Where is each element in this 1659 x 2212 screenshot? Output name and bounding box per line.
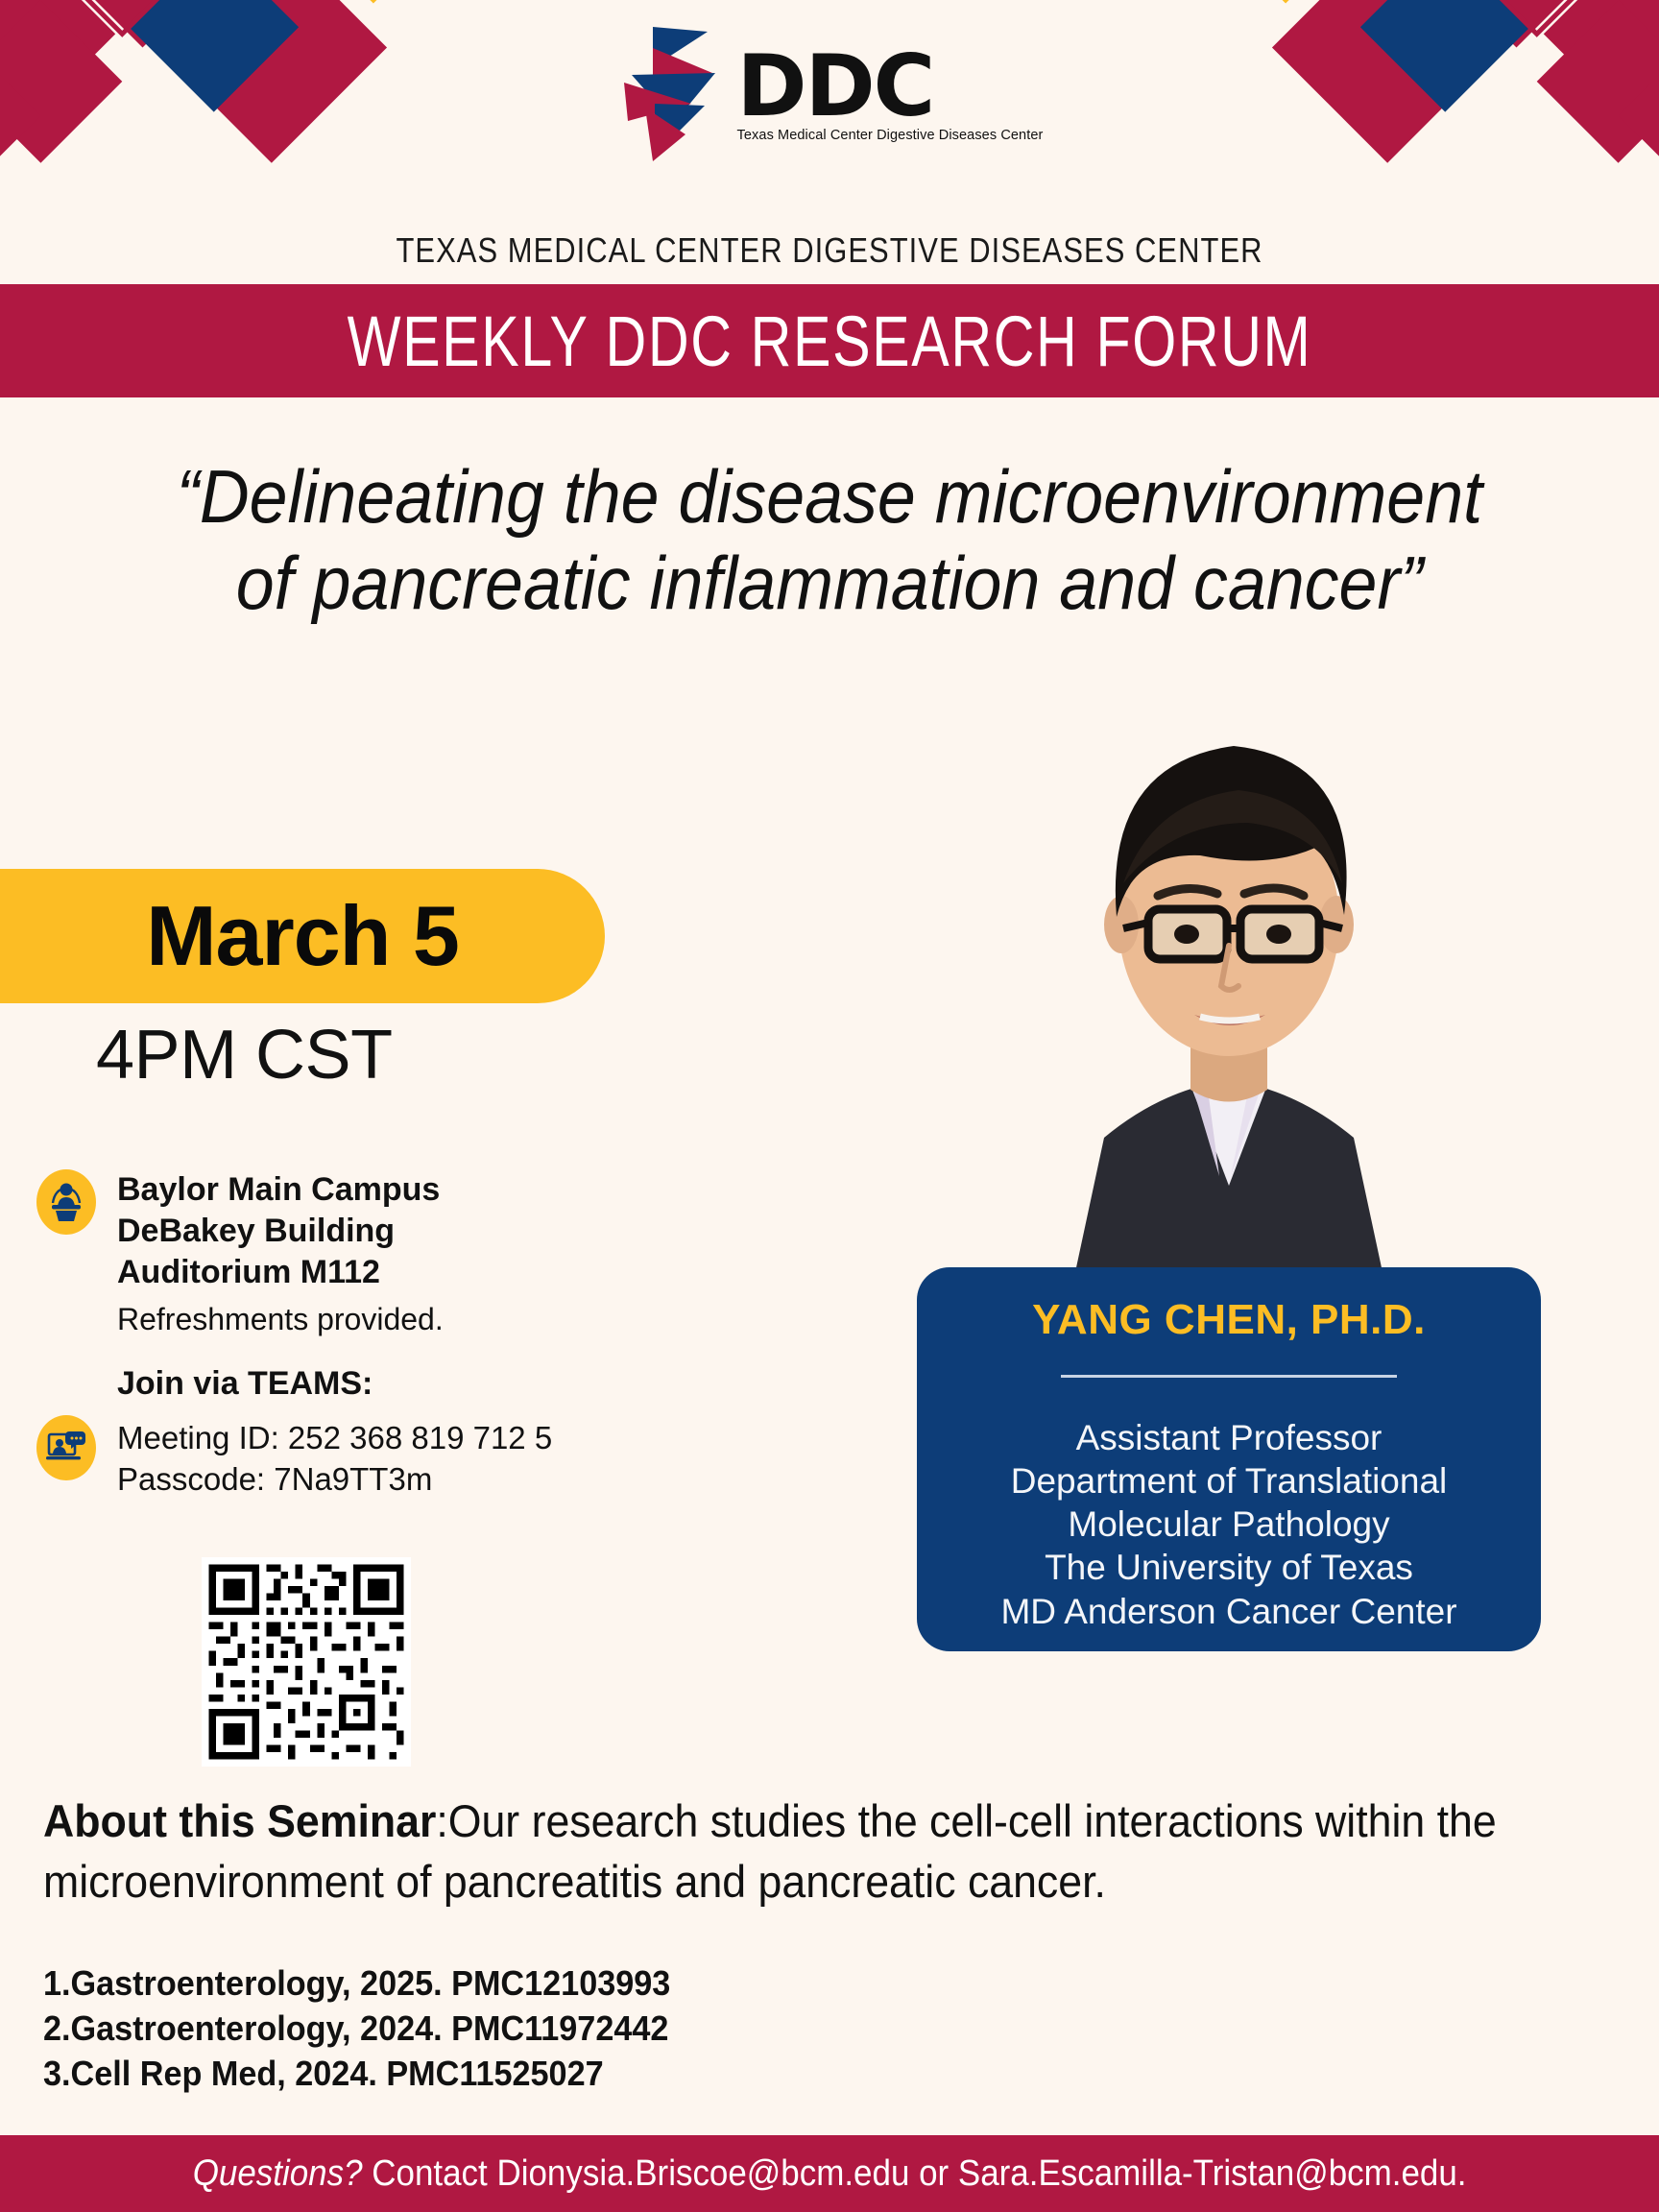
speaker-affiliation-line: Molecular Pathology bbox=[917, 1503, 1541, 1546]
laptop-video-call-glyph bbox=[46, 1431, 86, 1465]
ddc-triangle-mark-icon bbox=[616, 27, 730, 161]
speaker-affiliation-line: The University of Texas bbox=[917, 1546, 1541, 1589]
footer-contact-text: Questions? Contact Dionysia.Briscoe@bcm.… bbox=[193, 2153, 1467, 2195]
venue-line-3: Auditorium M112 bbox=[117, 1252, 444, 1293]
footer-questions-label: Questions? bbox=[193, 2153, 363, 2194]
talk-title-line-2: of pancreatic inflammation and cancer” bbox=[66, 540, 1593, 626]
event-date: March 5 bbox=[117, 887, 459, 985]
speaker-headshot-image bbox=[960, 677, 1498, 1272]
forum-banner-title: WEEKLY DDC RESEARCH FORUM bbox=[348, 301, 1312, 382]
teams-heading: Join via TEAMS: bbox=[117, 1363, 552, 1405]
about-seminar-label: About this Seminar bbox=[43, 1795, 436, 1846]
speaker-affiliation: Assistant Professor Department of Transl… bbox=[917, 1416, 1541, 1633]
venue-line-2: DeBakey Building bbox=[117, 1211, 444, 1252]
reference-item: 3.Cell Rep Med, 2024. PMC11525027 bbox=[43, 2052, 670, 2097]
organization-name: TEXAS MEDICAL CENTER DIGESTIVE DISEASES … bbox=[116, 230, 1543, 271]
about-seminar: About this Seminar:Our research studies … bbox=[43, 1791, 1539, 1912]
qr-code-image bbox=[202, 1557, 411, 1767]
speaker-name: YANG CHEN, PH.D. bbox=[917, 1296, 1541, 1344]
venue-note: Refreshments provided. bbox=[117, 1300, 444, 1338]
logo-wordmark: DDC bbox=[737, 46, 934, 127]
about-seminar-separator: : bbox=[436, 1795, 447, 1846]
footer-contact-bar: Questions? Contact Dionysia.Briscoe@bcm.… bbox=[0, 2135, 1659, 2212]
podium-speaker-glyph bbox=[47, 1182, 85, 1222]
talk-title-line-1: “Delineating the disease microenvironmen… bbox=[66, 453, 1593, 540]
seminar-flyer: DDC Texas Medical Center Digestive Disea… bbox=[0, 0, 1659, 2212]
speaker-affiliation-line: Assistant Professor bbox=[917, 1416, 1541, 1459]
virtual-join-info: Join via TEAMS: Meeting ID: 252 368 819 … bbox=[36, 1363, 552, 1501]
speaker-divider bbox=[1061, 1375, 1397, 1378]
reference-item: 2.Gastroenterology, 2024. PMC11972442 bbox=[43, 2007, 670, 2052]
logo-tagline: Texas Medical Center Digestive Diseases … bbox=[737, 129, 1044, 143]
venue-info: Baylor Main Campus DeBakey Building Audi… bbox=[36, 1169, 444, 1339]
laptop-video-call-icon bbox=[36, 1415, 96, 1480]
footer-contact-emails[interactable]: Contact Dionysia.Briscoe@bcm.edu or Sara… bbox=[362, 2153, 1466, 2194]
event-time: 4PM CST bbox=[96, 1016, 393, 1094]
reference-item: 1.Gastroenterology, 2025. PMC12103993 bbox=[43, 1961, 670, 2007]
teams-meeting-id[interactable]: Meeting ID: 252 368 819 712 5 bbox=[117, 1418, 552, 1459]
forum-banner: WEEKLY DDC RESEARCH FORUM bbox=[0, 284, 1659, 397]
speaker-affiliation-line: Department of Translational bbox=[917, 1459, 1541, 1503]
speaker-affiliation-line: MD Anderson Cancer Center bbox=[917, 1590, 1541, 1633]
teams-meeting-qr-code[interactable] bbox=[202, 1557, 411, 1767]
speaker-card: YANG CHEN, PH.D. Assistant Professor Dep… bbox=[917, 1267, 1541, 1651]
venue-line-1: Baylor Main Campus bbox=[117, 1169, 444, 1211]
page-title: “Delineating the disease microenvironmen… bbox=[66, 453, 1593, 627]
teams-passcode[interactable]: Passcode: 7Na9TT3m bbox=[117, 1459, 552, 1501]
event-date-badge: March 5 bbox=[0, 869, 605, 1003]
reference-list: 1.Gastroenterology, 2025. PMC12103993 2.… bbox=[43, 1961, 670, 2096]
podium-speaker-icon bbox=[36, 1169, 96, 1235]
ddc-logo: DDC Texas Medical Center Digestive Disea… bbox=[0, 27, 1659, 161]
speaker-headshot bbox=[960, 677, 1498, 1272]
